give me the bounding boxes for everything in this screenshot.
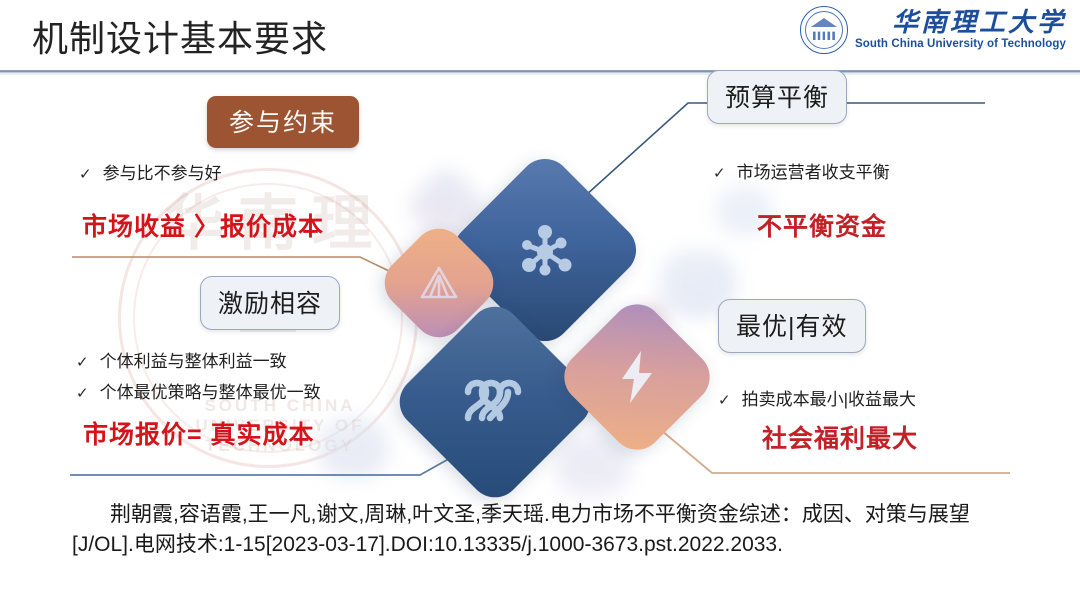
check-icon: ✓ (76, 353, 89, 371)
logo-name-en: South China University of Technology (855, 38, 1066, 50)
logo-name-cn: 华南理工大学 (892, 10, 1066, 37)
bullet-item: ✓ 拍卖成本最小|收益最大 (718, 385, 916, 410)
bullet-text: 拍卖成本最小|收益最大 (742, 385, 916, 410)
bullet-item: ✓ 个体最优策略与整体最优一致 (76, 378, 321, 403)
decorative-blob (556, 436, 630, 496)
bullet-text: 个体利益与整体利益一致 (100, 347, 287, 372)
university-logo: 华南理工大学 South China University of Technol… (800, 6, 1066, 54)
bullet-item: ✓ 市场运营者收支平衡 (713, 158, 890, 183)
highlight-incentive: 市场报价= 真实成本 (83, 415, 315, 451)
bullet-item: ✓ 个体利益与整体利益一致 (76, 347, 287, 372)
chip-budget-balance[interactable]: 预算平衡 (707, 70, 847, 124)
citation-text: 荆朝霞,容语霞,王一凡,谢文,周琳,叶文圣,季天瑶.电力市场不平衡资金综述：成因… (72, 500, 1022, 560)
highlight-welfare: 社会福利最大 (762, 419, 918, 455)
bullet-text: 个体最优策略与整体最优一致 (100, 378, 321, 403)
bullet-item: ✓ 参与比不参与好 (79, 159, 222, 184)
header-divider-shadow (0, 73, 1080, 75)
check-icon: ✓ (79, 165, 92, 183)
decorative-blob (318, 418, 388, 478)
dna-helix-icon (456, 372, 534, 432)
highlight-budget: 不平衡资金 (757, 207, 887, 243)
bullet-text: 市场运营者收支平衡 (737, 158, 890, 183)
check-icon: ✓ (718, 391, 731, 409)
chip-incentive-compatibility[interactable]: 激励相容 (200, 276, 340, 330)
slide-canvas: 机制设计基本要求 华南理工大学 South China University o… (0, 0, 1080, 608)
lightning-tile[interactable] (554, 294, 721, 461)
university-seal-icon (800, 6, 848, 54)
chip-optimal-efficient[interactable]: 最优|有效 (718, 299, 866, 353)
triangle-icon (417, 261, 461, 305)
network-hub-icon (509, 214, 581, 286)
bullet-text: 参与比不参与好 (103, 159, 222, 184)
check-icon: ✓ (76, 384, 89, 402)
chip-participation-constraint[interactable]: 参与约束 (207, 96, 359, 148)
highlight-participation: 市场收益 〉报价成本 (82, 207, 324, 243)
check-icon: ✓ (713, 164, 726, 182)
page-title: 机制设计基本要求 (32, 10, 328, 62)
lightning-bolt-icon (611, 348, 663, 406)
